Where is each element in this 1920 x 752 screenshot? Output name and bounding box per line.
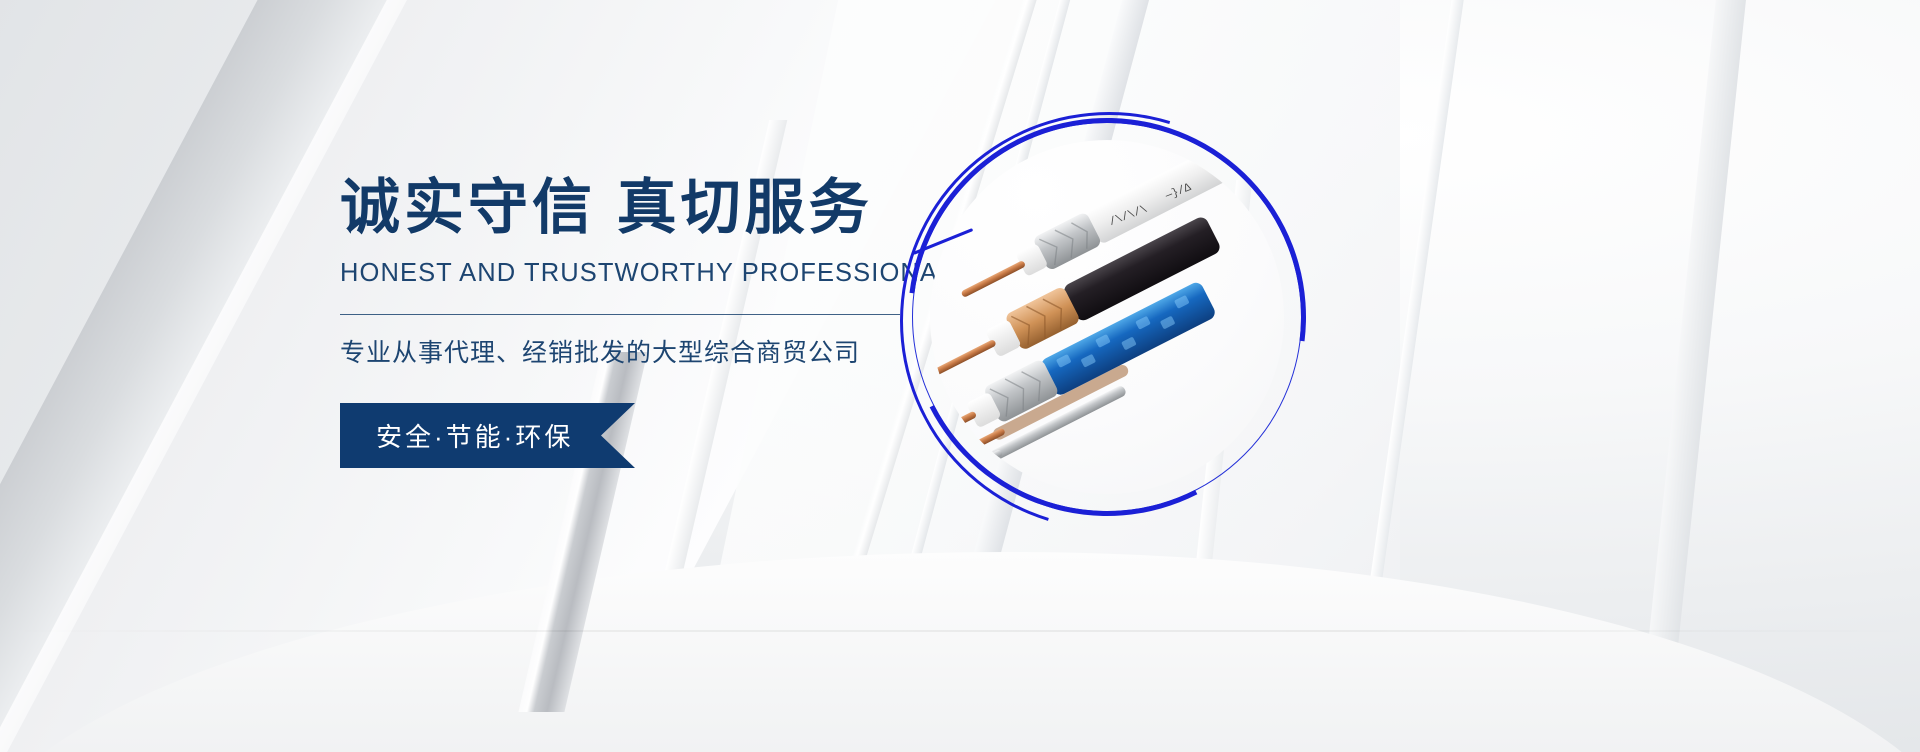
background-floor-shadow	[0, 630, 1920, 632]
banner-divider	[340, 314, 900, 315]
hero-banner: 诚实守信 真切服务 HONEST AND TRUSTWORTHY PROFESS…	[0, 0, 1920, 752]
banner-subline-english: HONEST AND TRUSTWORTHY PROFESSIONAL SERV…	[340, 259, 980, 288]
banner-headline: 诚实守信 真切服务	[340, 170, 980, 245]
product-medallion: /\/\/\ —}/∆	[912, 122, 1302, 512]
banner-tagline-badge[interactable]: 安全·节能·环保	[340, 403, 635, 468]
banner-content: 诚实守信 真切服务 HONEST AND TRUSTWORTHY PROFESS…	[340, 170, 980, 468]
banner-subline-chinese: 专业从事代理、经销批发的大型综合商贸公司	[340, 333, 980, 369]
